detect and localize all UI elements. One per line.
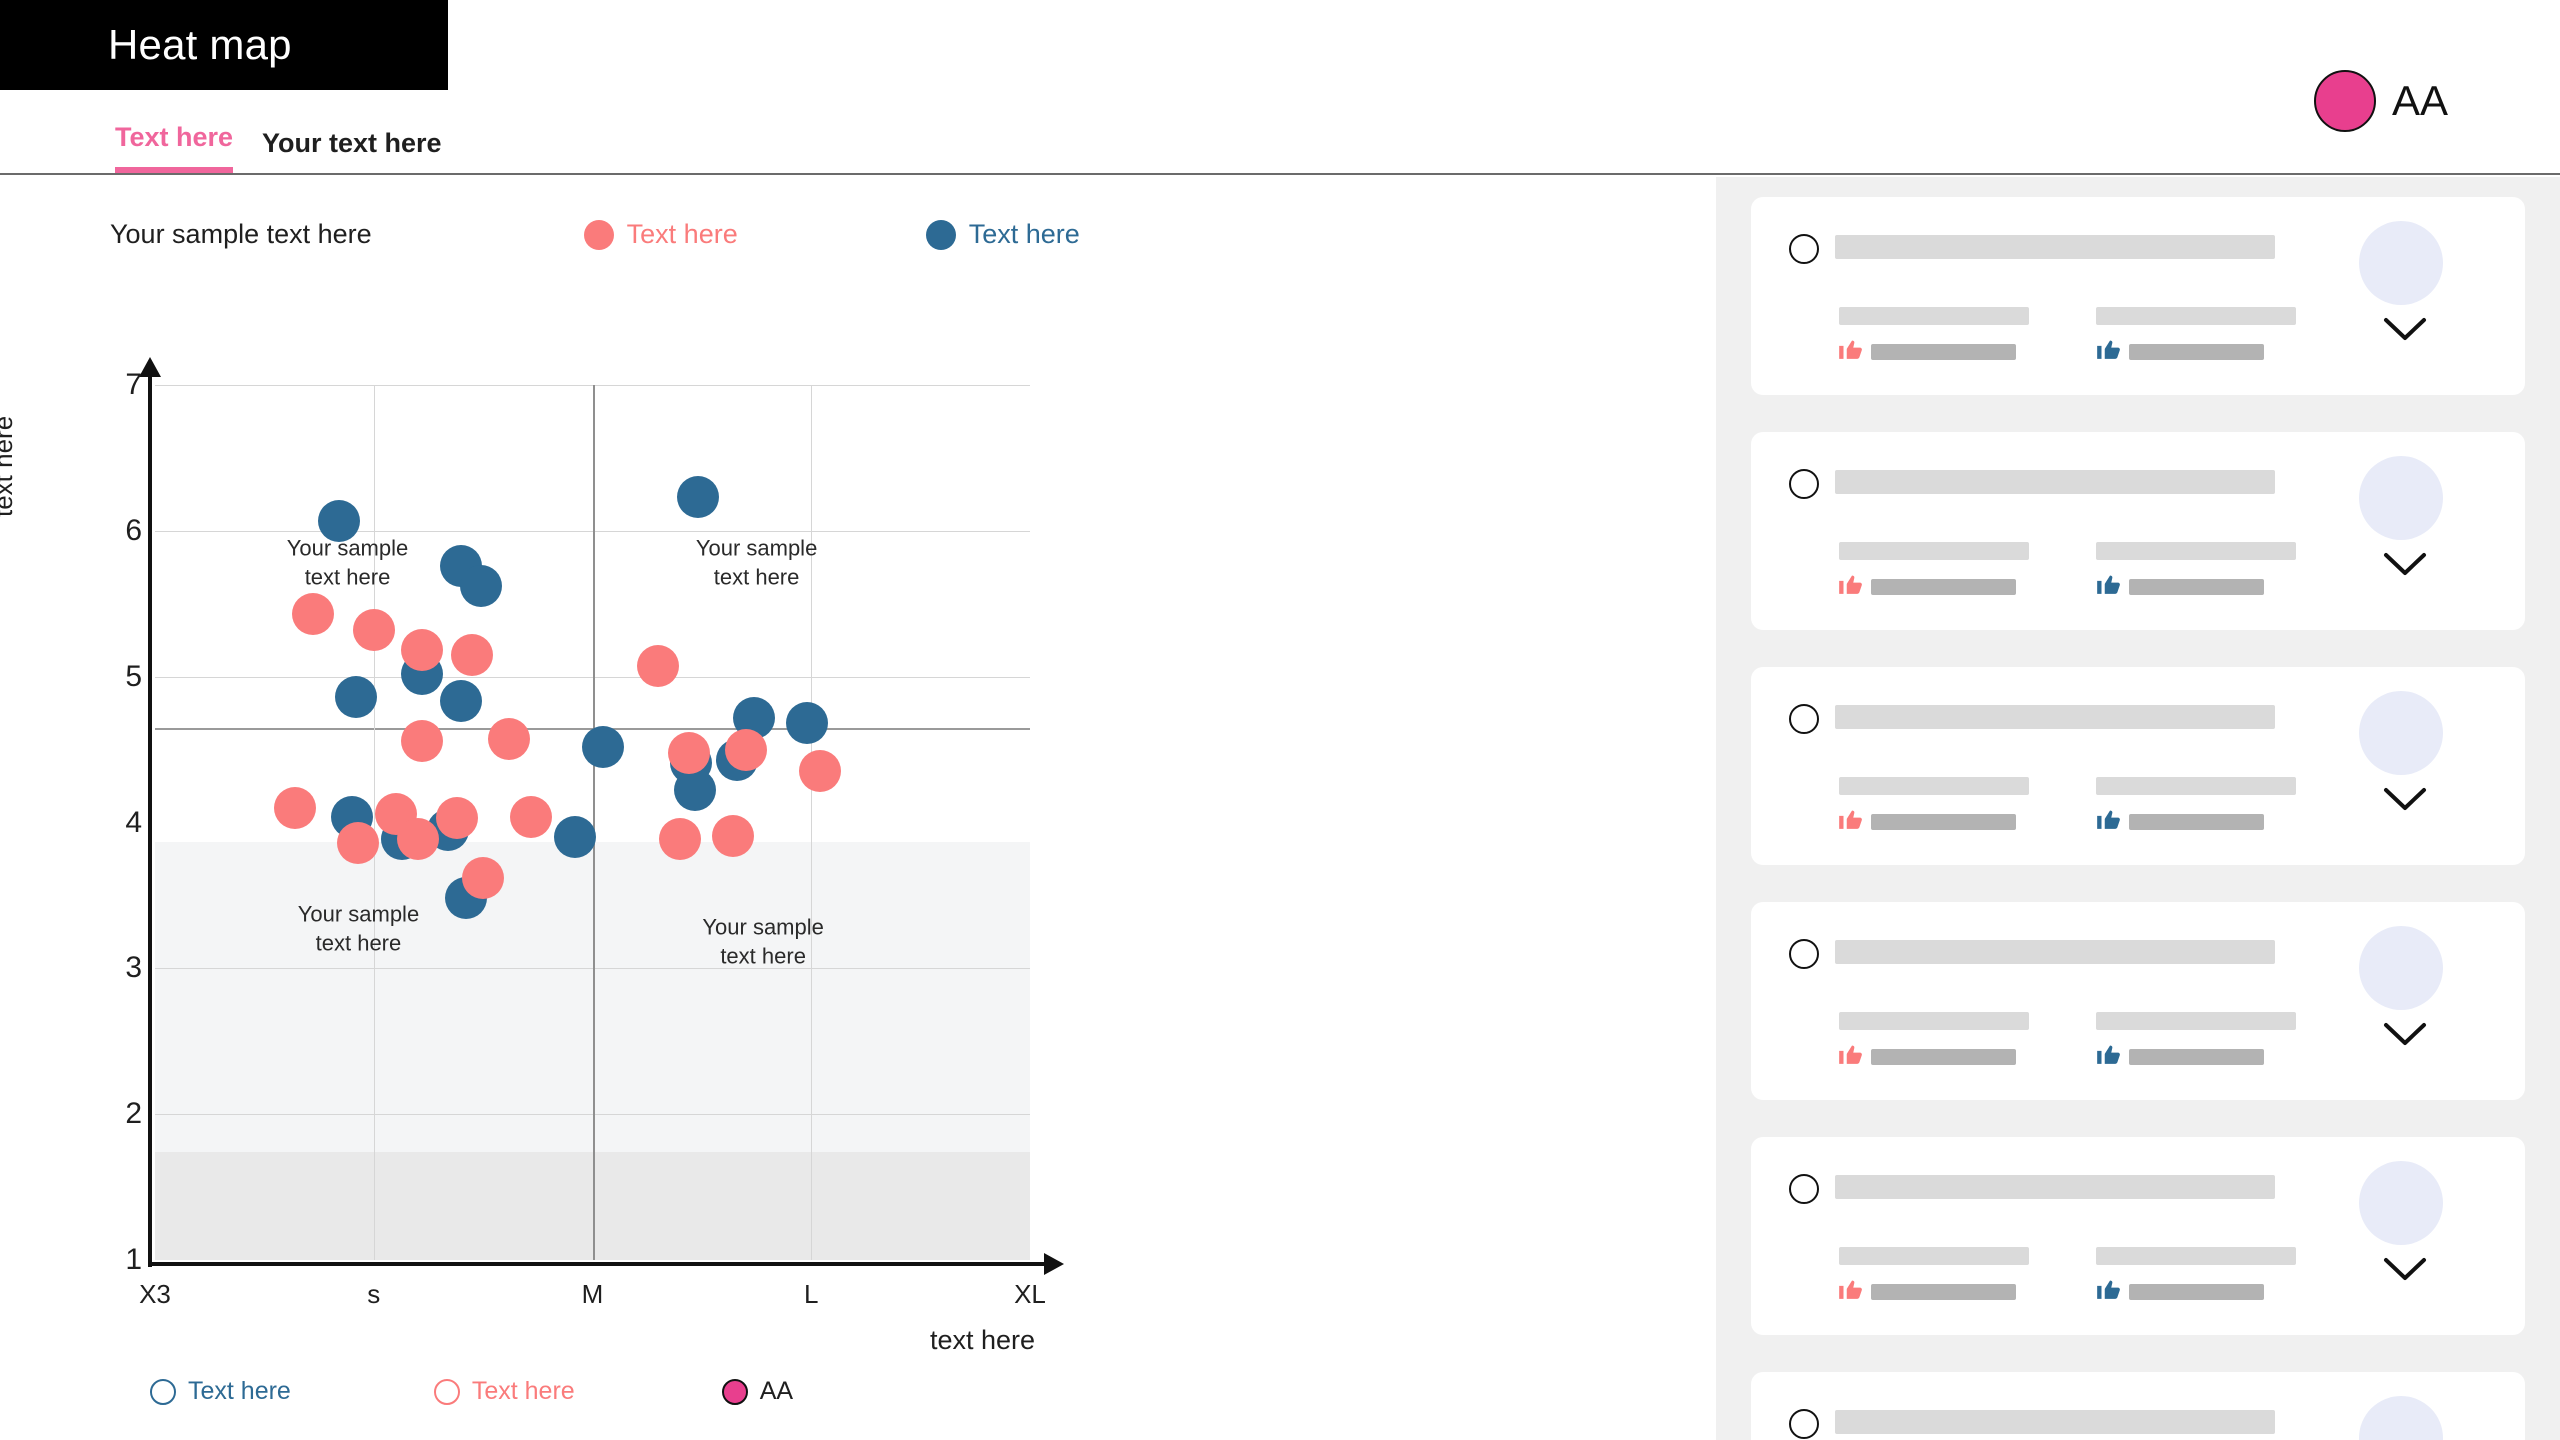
scatter-bubble[interactable] [637,645,679,687]
bottom-legend-entry-blue[interactable]: Text here [150,1377,291,1406]
card-list-pane[interactable] [1716,177,2560,1440]
legend-label-red: Text here [627,219,738,250]
list-item[interactable] [1751,197,2525,395]
subtitle-placeholder-bar-a [1839,777,2029,795]
thumbs-up-icon-blue[interactable] [2095,805,2121,831]
scatter-bubble[interactable] [401,720,443,762]
scatter-bubble[interactable] [668,732,710,774]
thumbs-up-icon-blue[interactable] [2095,1040,2121,1066]
subtitle-placeholder-bar-a [1839,1012,2029,1030]
thumbs-up-icon-red[interactable] [1837,570,1863,596]
title-placeholder-bar [1835,940,2275,964]
x-tick-label: X3 [139,1279,171,1310]
scatter-bubble[interactable] [292,593,334,635]
quadrant-label: Your sample text here [696,534,817,591]
quadrant-label: Your sample text here [702,913,823,970]
y-tick-label: 3 [102,951,142,985]
scatter-bubble[interactable] [274,787,316,829]
radio-button[interactable] [1789,469,1819,499]
y-tick-label: 1 [102,1243,142,1277]
x-tick-label: M [582,1279,604,1310]
value-placeholder-bar-b [2129,814,2264,830]
y-axis-ticks: 1234567 [90,385,142,1260]
list-item[interactable] [1751,432,2525,630]
title-placeholder-bar [1835,470,2275,494]
subtitle-placeholder-bar-b [2096,307,2296,325]
value-placeholder-bar-a [1871,579,2016,595]
legend-entry-blue[interactable]: Text here [926,219,1080,250]
x-axis-arrow-icon [1044,1253,1064,1275]
title-placeholder-bar [1835,235,2275,259]
y-tick-label: 5 [102,660,142,694]
scatter-bubble[interactable] [488,718,530,760]
page-title: Heat map [0,21,292,69]
scatter-bubble[interactable] [659,818,701,860]
value-placeholder-bar-a [1871,814,2016,830]
legend-dot-red-icon [584,220,614,250]
y-tick-label: 2 [102,1097,142,1131]
legend-entry-red[interactable]: Text here [584,219,738,250]
avatar-placeholder-circle [2359,1161,2443,1245]
scatter-bubble[interactable] [725,729,767,771]
scatter-bubble[interactable] [397,818,439,860]
subtitle-placeholder-bar-b [2096,1247,2296,1265]
chart-pane: Your sample text here Text here Text her… [0,177,1716,1440]
x-axis-title: text here [930,1325,1035,1356]
subtitle-placeholder-bar-a [1839,542,2029,560]
chevron-down-icon[interactable] [2383,315,2427,343]
bottom-legend-label-red: Text here [472,1377,575,1406]
thumbs-up-icon-red[interactable] [1837,335,1863,361]
value-placeholder-bar-b [2129,579,2264,595]
list-item[interactable] [1751,1372,2525,1440]
scatter-bubble[interactable] [510,796,552,838]
scatter-bubble[interactable] [460,565,502,607]
list-item[interactable] [1751,902,2525,1100]
gridline-vertical-major [593,385,595,1260]
thumbs-up-icon-red[interactable] [1837,1040,1863,1066]
chevron-down-icon[interactable] [2383,550,2427,578]
title-placeholder-bar [1835,1175,2275,1199]
y-tick-label: 4 [102,806,142,840]
x-tick-label: XL [1014,1279,1046,1310]
avatar-placeholder-circle [2359,221,2443,305]
filled-dot-pink-icon [722,1379,748,1405]
scatter-bubble[interactable] [799,750,841,792]
value-placeholder-bar-a [1871,344,2016,360]
y-tick-label: 6 [102,514,142,548]
radio-button[interactable] [1789,939,1819,969]
radio-button[interactable] [1789,1174,1819,1204]
bottom-legend-entry-aa[interactable]: AA [722,1377,793,1406]
thumbs-up-icon-blue[interactable] [2095,570,2121,596]
radio-button[interactable] [1789,704,1819,734]
quadrant-label: Your sample text here [287,534,408,591]
avatar-placeholder-circle [2359,1396,2443,1440]
tab-text-here[interactable]: Text here [115,122,233,173]
thumbs-up-icon-red[interactable] [1837,1275,1863,1301]
ring-outline-red-icon [434,1379,460,1405]
scatter-bubble[interactable] [353,609,395,651]
scatter-bubble[interactable] [318,500,360,542]
tab-bar: Text here Your text here [0,90,2560,175]
subtitle-placeholder-bar-a [1839,307,2029,325]
scatter-bubble[interactable] [674,769,716,811]
avatar-placeholder-circle [2359,926,2443,1010]
scatter-bubble[interactable] [677,476,719,518]
scatter-bubble[interactable] [335,676,377,718]
quadrant-label: Your sample text here [298,900,419,957]
subtitle-placeholder-bar-b [2096,777,2296,795]
x-axis-line [148,1262,1048,1266]
avatar-placeholder-circle [2359,691,2443,775]
y-axis-title: text here [0,416,19,517]
value-placeholder-bar-b [2129,1049,2264,1065]
scatter-bubble[interactable] [554,816,596,858]
gridline-vertical [374,385,375,1260]
list-item[interactable] [1751,1137,2525,1335]
y-axis-line [148,373,152,1267]
bottom-legend: Text here Text here AA [150,1377,793,1406]
avatar-placeholder-circle [2359,456,2443,540]
value-placeholder-bar-b [2129,1284,2264,1300]
radio-button[interactable] [1789,234,1819,264]
scatter-bubble[interactable] [712,815,754,857]
gridline-vertical [811,385,812,1260]
scatter-bubble[interactable] [440,680,482,722]
x-tick-label: s [367,1279,380,1310]
ring-outline-blue-icon [150,1379,176,1405]
legend-dot-blue-icon [926,220,956,250]
x-axis-ticks: X3sMLXL [155,1279,1030,1319]
title-placeholder-bar [1835,705,2275,729]
scatter-bubble[interactable] [786,702,828,744]
list-item[interactable] [1751,667,2525,865]
scatter-bubble[interactable] [401,629,443,671]
subtitle-placeholder-bar-a [1839,1247,2029,1265]
subtitle-placeholder-bar-b [2096,1012,2296,1030]
chevron-down-icon[interactable] [2383,1020,2427,1048]
value-placeholder-bar-b [2129,344,2264,360]
bottom-legend-label-aa: AA [760,1377,793,1406]
scatter-bubble[interactable] [337,822,379,864]
scatter-bubble[interactable] [436,797,478,839]
bottom-legend-label-blue: Text here [188,1377,291,1406]
y-tick-label: 7 [102,368,142,402]
title-placeholder-bar [1835,1410,2275,1434]
x-tick-label: L [804,1279,818,1310]
app-root: Heat map AA Text here Your text here You… [0,0,2560,1440]
chart-header: Your sample text here Text here Text her… [110,219,1080,250]
value-placeholder-bar-a [1871,1049,2016,1065]
scatter-bubble[interactable] [451,634,493,676]
bottom-legend-entry-red[interactable]: Text here [434,1377,575,1406]
chart-caption: Your sample text here [110,219,372,250]
chevron-down-icon[interactable] [2383,1255,2427,1283]
value-placeholder-bar-a [1871,1284,2016,1300]
radio-button[interactable] [1789,1409,1819,1439]
scatter-bubble[interactable] [462,857,504,899]
subtitle-placeholder-bar-b [2096,542,2296,560]
chevron-down-icon[interactable] [2383,785,2427,813]
thumbs-up-icon-blue[interactable] [2095,1275,2121,1301]
scatter-bubble[interactable] [582,726,624,768]
tab-your-text-here[interactable]: Your text here [262,128,442,173]
y-axis-arrow-icon [139,357,161,377]
thumbs-up-icon-blue[interactable] [2095,335,2121,361]
thumbs-up-icon-red[interactable] [1837,805,1863,831]
app-title-banner: Heat map [0,0,448,90]
scatter-plot-area[interactable]: Your sample text hereYour sample text he… [155,385,1030,1260]
legend-label-blue: Text here [969,219,1080,250]
